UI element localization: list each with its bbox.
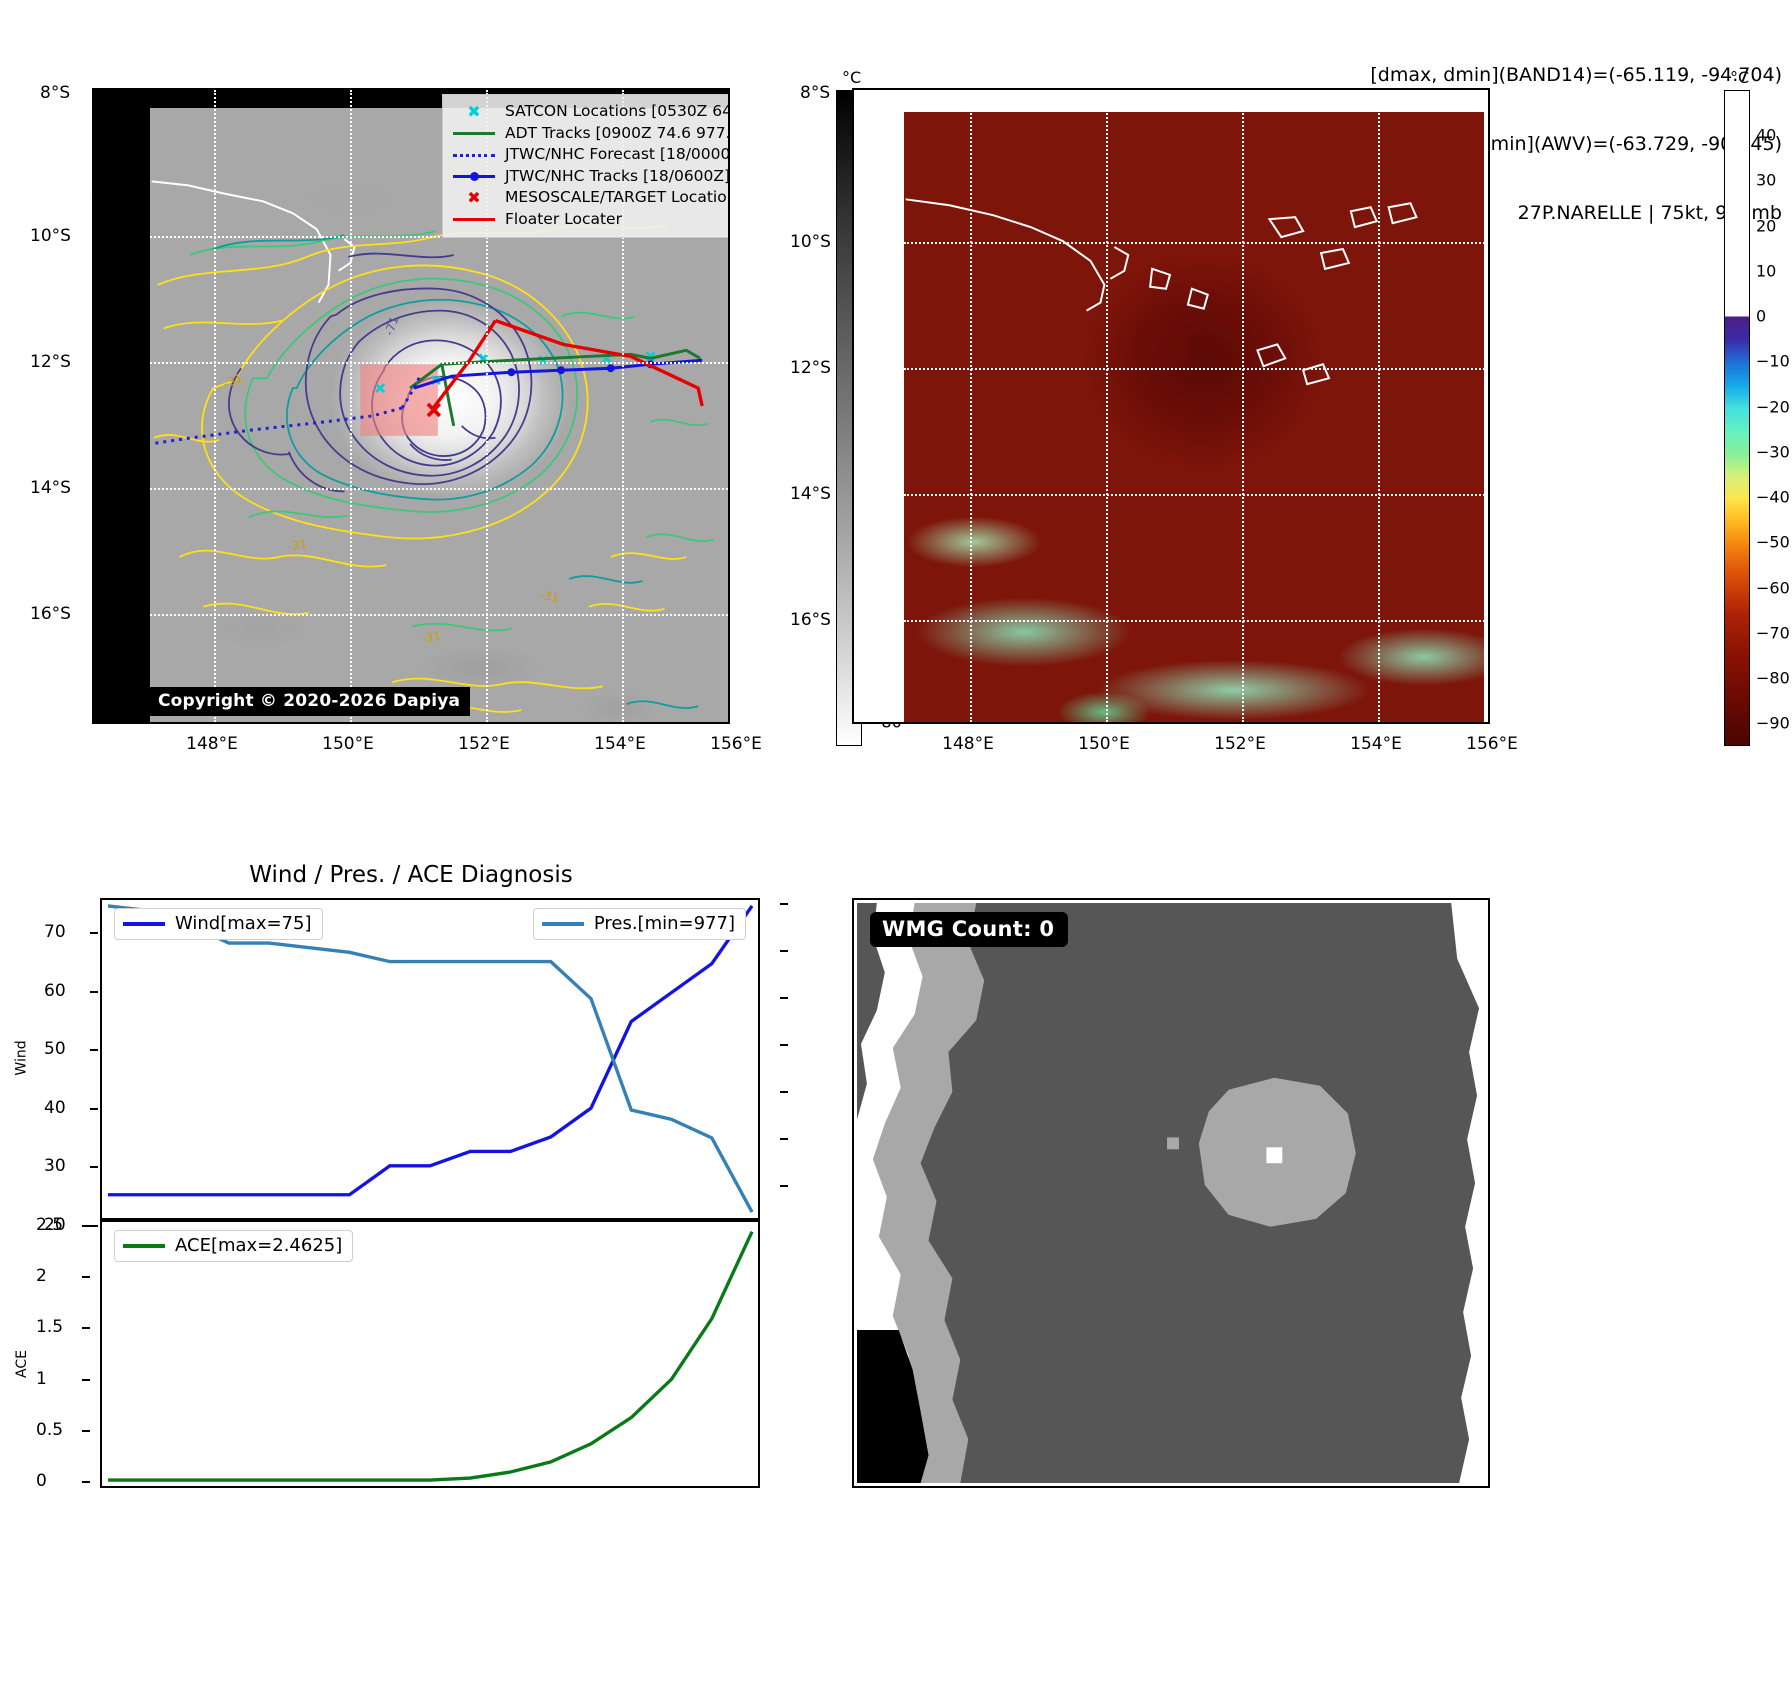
wind-axis-label: Wind <box>14 1040 30 1075</box>
wmg-regions <box>857 903 1485 1483</box>
ace-axis-label: ACE <box>14 1350 30 1378</box>
axis-tick-mark <box>780 1044 788 1046</box>
colorbar-tick: 30 <box>1756 171 1776 190</box>
colorbar-tick: 10 <box>1756 261 1776 280</box>
lat-tick-label: 16°S <box>790 610 831 630</box>
axis-tick-mark <box>82 1481 90 1483</box>
axis-tick-mark <box>780 903 788 905</box>
graticule-lat-16s <box>904 620 1488 622</box>
coastline-overlay <box>854 90 1488 722</box>
axis-tick-label: 0.5 <box>36 1420 63 1440</box>
legend-label: MESOSCALE/TARGET Location <box>505 187 730 209</box>
colorbar-tick: −20 <box>1756 397 1790 416</box>
colorbar-unit-label: °C <box>1730 68 1749 87</box>
colorbar-tick: −60 <box>1756 578 1790 597</box>
axis-tick-mark <box>82 1225 90 1227</box>
dmax-dmin-band14-label: [dmax, dmin](BAND14)=(-65.119, -94.704) <box>1370 64 1782 87</box>
colorbar-tick: −40 <box>1756 488 1790 507</box>
graticule-lon-152e <box>1242 90 1244 722</box>
graticule-lon-154e <box>1378 90 1380 722</box>
satcon-marker-icon: ✖ <box>451 103 497 121</box>
wind-series-line <box>108 906 752 1195</box>
ace-chart[interactable]: ACE[max=2.4625] <box>100 1220 760 1488</box>
colorbar-tick: 40 <box>1756 126 1776 145</box>
axis-tick-label: 2.5 <box>36 1215 63 1235</box>
axis-tick-mark <box>780 1138 788 1140</box>
lon-tick-label: 154°E <box>594 734 646 754</box>
axis-tick-mark <box>82 1379 90 1381</box>
graticule-lon-148e <box>970 90 972 722</box>
track-line-dot-icon <box>451 167 497 185</box>
lon-tick-label: 156°E <box>710 734 762 754</box>
legend-item-satcon[interactable]: ✖ SATCON Locations [0530Z 64 984] <box>451 101 730 123</box>
legend-label: Wind[max=75] <box>175 913 312 934</box>
wind-pressure-plot <box>102 900 758 1218</box>
axis-tick-mark <box>90 991 98 993</box>
legend-label: Floater Locater <box>505 209 622 231</box>
colorbar-tick: −80 <box>1756 669 1790 688</box>
lon-tick-label: 152°E <box>458 734 510 754</box>
lat-tick-label: 8°S <box>40 83 70 103</box>
wmg-map[interactable]: WMG Count: 0 <box>852 898 1490 1488</box>
axis-tick-mark <box>82 1276 90 1278</box>
graticule-lon-148e <box>214 90 216 722</box>
colorbar-tick: −10 <box>1756 352 1790 371</box>
legend-label: SATCON Locations [0530Z 64 984] <box>505 101 730 123</box>
map-legend: ✖ SATCON Locations [0530Z 64 984] ADT Tr… <box>442 94 730 238</box>
ace-series-line <box>108 1232 752 1480</box>
legend-item-jtwc-forecast[interactable]: JTWC/NHC Forecast [18/0000Z] <box>451 144 730 166</box>
colorbar-unit-label: °C <box>842 68 861 87</box>
graticule-lat-14s <box>904 494 1488 496</box>
ace-legend[interactable]: ACE[max=2.4625] <box>114 1230 353 1262</box>
axis-tick-label: 60 <box>44 981 66 1001</box>
axis-tick-mark <box>780 997 788 999</box>
lat-tick-label: 10°S <box>30 226 71 246</box>
axis-tick-mark <box>90 932 98 934</box>
forecast-dotted-line-icon <box>451 146 497 164</box>
lat-tick-label: 10°S <box>790 232 831 252</box>
lon-tick-label: 148°E <box>186 734 238 754</box>
wind-pressure-chart[interactable]: Wind[max=75] Pres.[min=977] <box>100 898 760 1220</box>
colorbar-tick: −70 <box>1756 623 1790 642</box>
graticule-lat-10s <box>904 242 1488 244</box>
awv-imagery-map[interactable] <box>852 88 1490 724</box>
legend-label: ACE[max=2.4625] <box>175 1235 342 1256</box>
wmg-count-badge: WMG Count: 0 <box>870 912 1068 947</box>
wmg-raster <box>857 903 1485 1483</box>
lat-tick-label: 14°S <box>790 484 831 504</box>
lat-tick-label: 12°S <box>30 352 71 372</box>
graticule-lat-12s <box>904 368 1488 370</box>
legend-item-mesoscale-target[interactable]: ✖ MESOSCALE/TARGET Location <box>451 187 730 209</box>
axis-tick-label: 30 <box>44 1156 66 1176</box>
lon-tick-label: 152°E <box>1214 734 1266 754</box>
svg-text:-31: -31 <box>420 629 441 646</box>
graticule-lon-150e <box>1106 90 1108 722</box>
lon-tick-label: 150°E <box>322 734 374 754</box>
lon-tick-label: 150°E <box>1078 734 1130 754</box>
axis-tick-mark <box>90 1166 98 1168</box>
axis-tick-label: 1.5 <box>36 1317 63 1337</box>
lon-tick-label: 156°E <box>1466 734 1518 754</box>
lat-tick-label: 12°S <box>790 358 831 378</box>
axis-tick-label: 70 <box>44 922 66 942</box>
axis-tick-mark <box>780 1091 788 1093</box>
legend-item-floater-locater[interactable]: Floater Locater <box>451 209 730 231</box>
legend-item-adt[interactable]: ADT Tracks [0900Z 74.6 977.4] <box>451 123 730 145</box>
colorbar-tick-labels: 403020100−10−20−30−40−50−60−70−80−90 <box>1756 90 1792 746</box>
svg-text:-31: -31 <box>286 536 308 554</box>
adt-line-icon <box>451 124 497 142</box>
colorbar-tick: 0 <box>1756 307 1766 326</box>
legend-label: JTWC/NHC Forecast [18/0000Z] <box>505 144 730 166</box>
axis-tick-label: 2 <box>36 1266 47 1286</box>
colorbar-tick: 20 <box>1756 216 1776 235</box>
axis-tick-mark <box>780 1185 788 1187</box>
axis-tick-label: 1 <box>36 1369 47 1389</box>
legend-item-jtwc-tracks[interactable]: JTWC/NHC Tracks [18/0600Z] <box>451 166 730 188</box>
wind-color-swatch <box>123 922 165 926</box>
colorbar-gradient-ir <box>1724 90 1750 746</box>
axis-tick-mark <box>90 1108 98 1110</box>
axis-tick-label: 50 <box>44 1039 66 1059</box>
storm-eye <box>1130 321 1190 373</box>
axis-tick-label: 0 <box>36 1471 47 1491</box>
lon-tick-label: 154°E <box>1350 734 1402 754</box>
diagnosis-chart-title: Wind / Pres. / ACE Diagnosis <box>92 862 730 888</box>
band14-target-area-map[interactable]: -31 -31 -31 -31 -71 <box>92 88 730 724</box>
copyright-label: Copyright © 2020-2026 Dapiya <box>150 687 470 716</box>
legend-label: Pres.[min=977] <box>594 913 735 934</box>
graticule-lon-150e <box>350 90 352 722</box>
pressure-color-swatch <box>542 922 584 926</box>
wind-legend[interactable]: Wind[max=75] <box>114 908 323 940</box>
colorbar-tick: −90 <box>1756 714 1790 733</box>
lon-tick-label: 148°E <box>942 734 994 754</box>
axis-tick-label: 40 <box>44 1098 66 1118</box>
pressure-legend[interactable]: Pres.[min=977] <box>533 908 746 940</box>
axis-tick-mark <box>780 950 788 952</box>
lat-tick-label: 16°S <box>30 604 71 624</box>
axis-tick-mark <box>82 1430 90 1432</box>
axis-tick-mark <box>90 1225 98 1227</box>
svg-text:-31: -31 <box>539 588 561 605</box>
lat-tick-label: 8°S <box>800 83 830 103</box>
graticule-lat-14s <box>150 488 728 490</box>
graticule-lat-16s <box>150 614 728 616</box>
axis-tick-mark <box>82 1327 90 1329</box>
colorbar-tick: −30 <box>1756 442 1790 461</box>
ace-color-swatch <box>123 1244 165 1248</box>
axis-tick-mark <box>90 1049 98 1051</box>
svg-text:-31: -31 <box>221 371 244 391</box>
legend-label: JTWC/NHC Tracks [18/0600Z] <box>505 166 730 188</box>
target-marker-icon: ✖ <box>451 189 497 207</box>
graticule-lat-12s <box>150 362 728 364</box>
legend-label: ADT Tracks [0900Z 74.6 977.4] <box>505 123 730 145</box>
colorbar-tick: −50 <box>1756 533 1790 552</box>
lat-tick-label: 14°S <box>30 478 71 498</box>
floater-line-icon <box>451 210 497 228</box>
